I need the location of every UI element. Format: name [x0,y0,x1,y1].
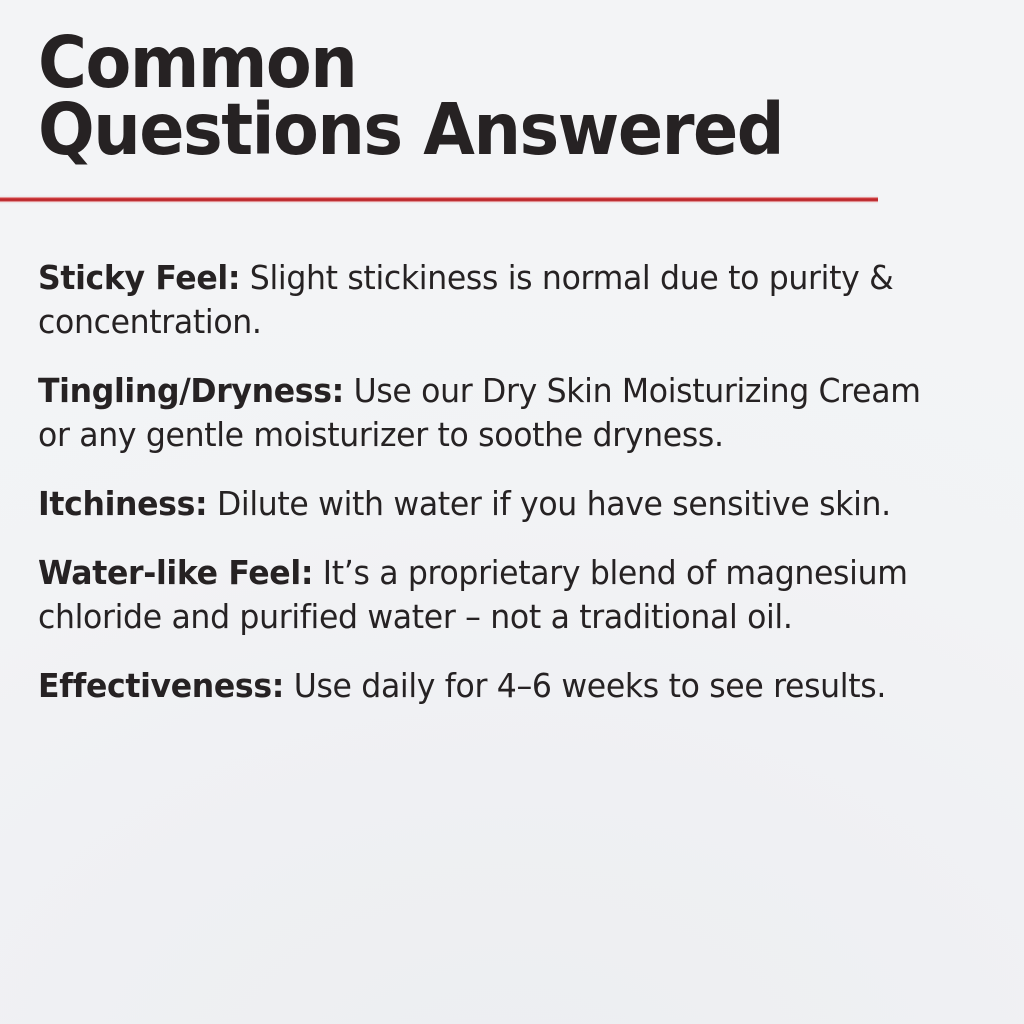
faq-item: Itchiness: Dilute with water if you have… [38,482,947,526]
faq-answer: Dilute with water if you have sensitive … [217,484,891,523]
page-title-line-1: Common [38,32,884,94]
faq-term: Tingling/Dryness: [38,371,344,410]
faq-term: Effectiveness: [38,666,284,705]
faq-list: Sticky Feel: Slight stickiness is normal… [38,256,990,708]
faq-item: Water-like Feel: It’s a proprietary blen… [38,551,947,639]
faq-term: Itchiness: [38,484,207,523]
faq-term: Sticky Feel: [38,258,240,297]
page-title: Common Questions Answered [38,32,938,161]
page-title-line-2: Questions Answered [38,99,884,161]
faq-item: Tingling/Dryness: Use our Dry Skin Moist… [38,369,947,457]
faq-item: Effectiveness: Use daily for 4–6 weeks t… [38,664,947,708]
faq-item: Sticky Feel: Slight stickiness is normal… [38,256,947,344]
faq-infographic-card: Common Questions Answered Sticky Feel: S… [0,0,1024,1024]
title-divider-rule [0,195,878,204]
faq-term: Water-like Feel: [38,553,313,592]
faq-answer: Use daily for 4–6 weeks to see results. [294,666,886,705]
